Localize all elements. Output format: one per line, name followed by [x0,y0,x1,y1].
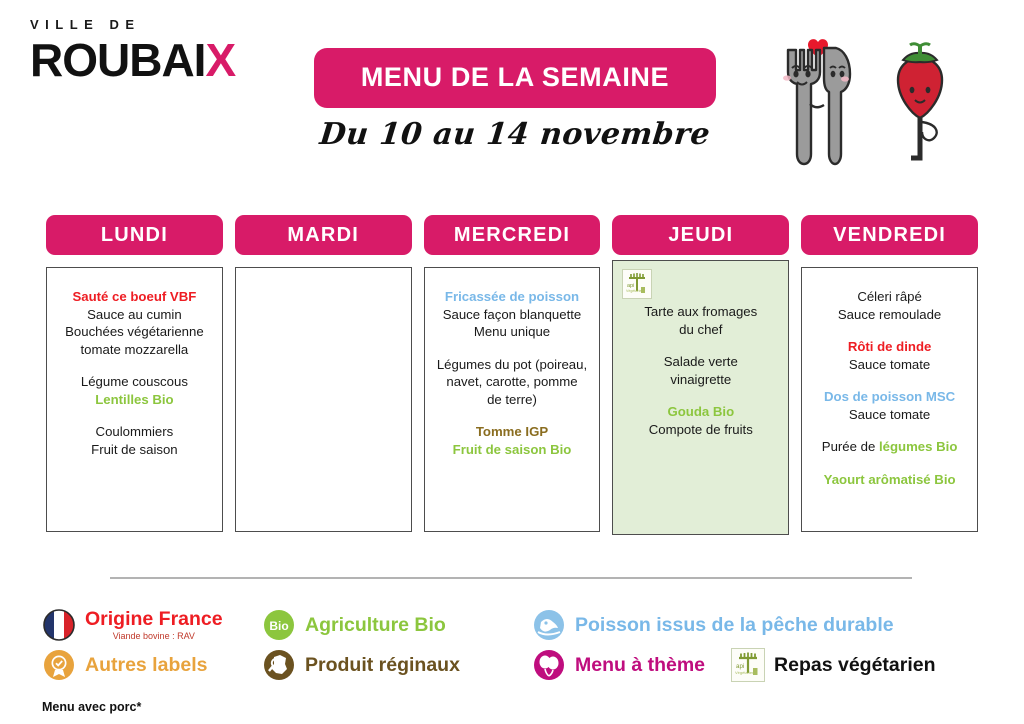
menu-line-text: Tarte aux fromages [644,304,757,319]
menu-line-text: Gouda Bio [667,404,734,419]
menu-course: Tomme IGPFruit de saison Bio [434,423,591,458]
menu-line-text: tomate mozzarella [81,342,189,357]
strawberry-character [898,44,942,158]
mascot-svg [752,14,1012,174]
legend-label-menu-theme: Menu à thème [575,655,705,675]
menu-course: Dos de poisson MSCSauce tomate [811,388,968,423]
menu-line: du chef [622,321,779,339]
legend-label-origine-france: Origine France [85,608,223,630]
menu-line: Tarte aux fromages [622,303,779,321]
menu-line-text: Sauté ce boeuf VBF [72,289,196,304]
menu-line-text: vinaigrette [670,372,731,387]
menu-line: Rôti de dinde [811,338,968,356]
day-header-mardi[interactable]: MARDI [235,215,412,255]
legend-item-origine-france[interactable]: Origine France Viande bovine : RAV [42,608,262,642]
menu-line-text: Coulommiers [96,424,174,439]
section-divider [110,577,912,579]
api-vegetarien-logo-icon: api Végétarien [731,648,765,682]
menu-course: Tarte aux fromagesdu chef [622,303,779,338]
legend-row-2: Autres labels Produit réginaux [42,648,1002,682]
menu-line-text: Fruit de saison Bio [453,442,572,457]
menu-line: Tomme IGP [434,423,591,441]
menu-line-text: Rôti de dinde [848,339,932,354]
menu-line: Coulommiers [56,423,213,441]
menu-course: Légumes du pot (poireau,navet, carotte, … [434,356,591,409]
menu-line-text: Tomme IGP [476,424,548,439]
menu-line-text: Légumes du pot (poireau, [437,357,587,372]
date-range: Du 10 au 14 novembre [312,117,718,152]
french-flag-icon [42,608,76,642]
menu-line: Sauce façon blanquette [434,306,591,324]
day-card-vendredi: Céleri râpéSauce remouladeRôti de dindeS… [801,267,978,532]
logo-accent-x: X [205,34,235,86]
legend-item-autres-labels[interactable]: Autres labels [42,648,262,682]
logo-wordmark: ROUBAIX [30,36,235,84]
menu-line-text: Céleri râpé [857,289,922,304]
menu-line: de terre) [434,391,591,409]
menu-course: Légume couscousLentilles Bio [56,373,213,408]
legend-label-repas-vegetarien: Repas végétarien [774,655,936,675]
menu-line-text: Yaourt arômatisé Bio [824,472,956,487]
menu-line: Sauté ce boeuf VBF [56,288,213,306]
menu-line: Légume couscous [56,373,213,391]
menu-line: Salade verte [622,353,779,371]
legend-item-agriculture-bio[interactable]: Bio Agriculture Bio [262,608,532,642]
menu-line: tomate mozzarella [56,341,213,359]
menu-line: Gouda Bio [622,403,779,421]
menu-line: Fricassée de poisson [434,288,591,306]
menu-line: Menu unique [434,323,591,341]
legend-label-produit-regionaux: Produit réginaux [305,655,460,675]
menu-line: Fruit de saison [56,441,213,459]
menu-line-text: navet, carotte, pomme [446,374,577,389]
day-header-jeudi[interactable]: JEUDI [612,215,789,255]
logo-top-line: VILLE DE [30,18,235,31]
award-rosette-icon [42,648,76,682]
theme-balloons-icon [532,648,566,682]
menu-line-text: Sauce au cumin [87,307,182,322]
menu-line: Dos de poisson MSC [811,388,968,406]
fish-sustainable-icon [532,608,566,642]
menu-line: Fruit de saison Bio [434,441,591,459]
menu-line-text: Fricassée de poisson [445,289,579,304]
bio-badge-icon: Bio [262,608,296,642]
menu-line-text: Lentilles Bio [95,392,173,407]
menu-line: Céleri râpé [811,288,968,306]
title-block: MENU DE LA SEMAINE Du 10 au 14 novembre [314,48,716,152]
legend-item-peche-durable[interactable]: Poisson issus de la pêche durable [532,608,894,642]
week-grid: LUNDI MARDI MERCREDI JEUDI VENDREDI Saut… [46,215,978,535]
menu-course: Céleri râpéSauce remoulade [811,288,968,323]
menu-line: Purée de légumes Bio [811,438,968,456]
menu-line-text: Fruit de saison [91,442,178,457]
day-card-row: Sauté ce boeuf VBFSauce au cuminBouchées… [46,267,978,535]
menu-line-text: Purée de [822,439,879,454]
legend-item-menu-theme[interactable]: Menu à thème [532,648,705,682]
legend: Origine France Viande bovine : RAV Bio A… [42,608,1002,688]
legend-label-agriculture-bio: Agriculture Bio [305,615,446,635]
menu-line-text: de terre) [487,392,537,407]
legend-row-1: Origine France Viande bovine : RAV Bio A… [42,608,1002,642]
legend-text-group: Origine France Viande bovine : RAV [85,609,223,641]
menu-line-text: du chef [679,322,722,337]
menu-poster: VILLE DE ROUBAIX MENU DE LA SEMAINE Du 1… [0,0,1024,724]
legend-label-peche-durable: Poisson issus de la pêche durable [575,615,894,635]
day-header-mercredi[interactable]: MERCREDI [424,215,601,255]
legend-footer-note: Menu avec porc* [42,700,141,714]
svg-text:Bio: Bio [269,619,288,633]
day-card-jeudi: api Végétarien Tarte aux fromagesdu chef… [612,260,789,535]
menu-line: Lentilles Bio [56,391,213,409]
menu-course: Gouda BioCompote de fruits [622,403,779,438]
legend-item-produit-regionaux[interactable]: Produit réginaux [262,648,532,682]
day-card-mardi [235,267,412,532]
knife-character [824,48,850,164]
menu-line: Bouchées végétarienne [56,323,213,341]
menu-line-text: Sauce tomate [849,357,930,372]
menu-course: Purée de légumes Bio [811,438,968,456]
menu-line: Compote de fruits [622,421,779,439]
menu-line-text: Menu unique [474,324,550,339]
menu-line-text: Dos de poisson MSC [824,389,955,404]
day-card-lundi: Sauté ce boeuf VBFSauce au cuminBouchées… [46,267,223,532]
day-header-vendredi[interactable]: VENDREDI [801,215,978,255]
menu-course: CoulommiersFruit de saison [56,423,213,458]
menu-line-text: Bouchées végétarienne [65,324,204,339]
menu-line-text: Salade verte [664,354,738,369]
svg-text:Végétarien: Végétarien [626,289,643,293]
menu-line: Sauce tomate [811,356,968,374]
menu-line-text: Sauce façon blanquette [443,307,582,322]
city-logo: VILLE DE ROUBAIX [30,18,235,84]
menu-line: vinaigrette [622,371,779,389]
menu-line: Légumes du pot (poireau, [434,356,591,374]
menu-line-text: Sauce remoulade [838,307,941,322]
day-header-lundi[interactable]: LUNDI [46,215,223,255]
logo-wordmark-text: ROUBAI [30,34,205,86]
france-map-icon [262,648,296,682]
day-header-row: LUNDI MARDI MERCREDI JEUDI VENDREDI [46,215,978,255]
menu-line: Sauce tomate [811,406,968,424]
menu-course: Yaourt arômatisé Bio [811,471,968,489]
menu-line-text: Légume couscous [81,374,188,389]
legend-item-repas-vegetarien[interactable]: api Végétarien Repas végétarien [731,648,936,682]
svg-text:api: api [736,663,744,670]
menu-line-text: Sauce tomate [849,407,930,422]
mascot-illustrations [752,14,1012,174]
menu-course: Rôti de dindeSauce tomate [811,338,968,373]
menu-line: Sauce au cumin [56,306,213,324]
legend-label-autres-labels: Autres labels [85,655,207,675]
page-title: MENU DE LA SEMAINE [314,48,716,108]
menu-line: navet, carotte, pomme [434,373,591,391]
menu-line: Yaourt arômatisé Bio [811,471,968,489]
menu-line: Sauce remoulade [811,306,968,324]
menu-line-highlight: légumes Bio [879,439,957,454]
holding-hands [810,104,824,107]
menu-line-text: Compote de fruits [649,422,753,437]
day-card-mercredi: Fricassée de poissonSauce façon blanquet… [424,267,601,532]
api-vegetarien-logo-icon: api Végétarien [622,269,652,299]
menu-course: Salade vertevinaigrette [622,353,779,388]
svg-text:Végétarien: Végétarien [735,670,754,675]
menu-course: Sauté ce boeuf VBFSauce au cuminBouchées… [56,288,213,358]
menu-course: Fricassée de poissonSauce façon blanquet… [434,288,591,341]
legend-sub-origine-france: Viande bovine : RAV [85,631,223,641]
